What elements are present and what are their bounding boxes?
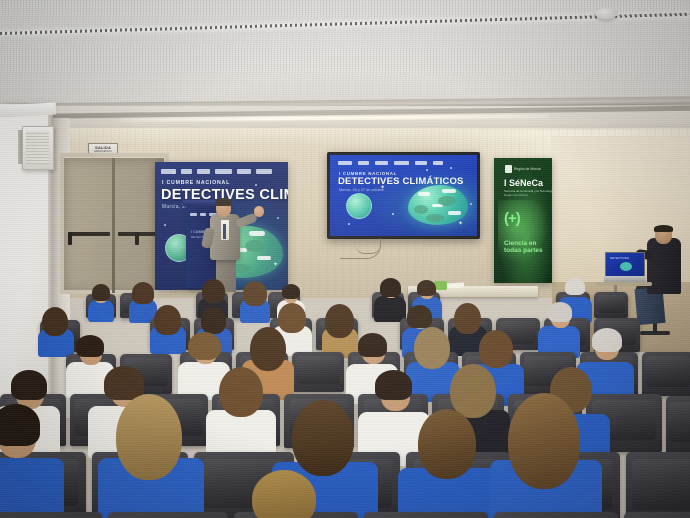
podium-logo-icon [190, 213, 197, 216]
sponsor-logo-icon [161, 169, 176, 174]
land-patch-icon [426, 214, 444, 222]
seneca-org-name: Región de Murcia [514, 167, 541, 171]
person-hair [418, 409, 476, 479]
cloud-icon [249, 231, 265, 236]
person-hair [565, 278, 585, 295]
sponsor-logo-icon [375, 161, 388, 165]
speaker-tie [223, 224, 226, 239]
person-hair [278, 303, 306, 333]
star-icon [277, 217, 279, 219]
seat[interactable] [642, 352, 690, 396]
cloud-icon [418, 192, 430, 196]
star-icon [164, 224, 166, 226]
seat[interactable] [624, 512, 690, 518]
screen-cable-secondary [355, 239, 381, 254]
star-icon [255, 184, 257, 186]
person-hair [414, 327, 450, 369]
speaker-hand [254, 206, 264, 217]
sponsor-logo-icon [433, 161, 443, 165]
sparkle-icon: ✦ [273, 262, 278, 268]
seneca-tagline-line1: Ciencia en [504, 240, 537, 247]
seneca-plus-symbol: (+) [504, 210, 520, 227]
star-icon [392, 213, 394, 215]
person-hair [358, 333, 387, 357]
person-hair [450, 364, 496, 418]
person-hair [479, 330, 513, 368]
person-hair [188, 332, 221, 360]
rollup-banner-seneca: Región de Murcia I SéNeCa Semana de la C… [494, 158, 552, 283]
person-hair [154, 305, 181, 335]
banner-sponsor-logos [161, 167, 282, 175]
door-split-line [112, 158, 115, 293]
seat[interactable] [292, 352, 344, 392]
sparkle-icon: ✦ [458, 221, 463, 227]
person-hair [454, 303, 481, 334]
sponsor-logo-icon [394, 161, 409, 165]
land-patch-icon [245, 240, 265, 252]
star-icon [348, 223, 350, 225]
person-hair [202, 279, 225, 303]
person-hair [592, 328, 622, 352]
sponsor-logo-icon [181, 169, 192, 174]
sponsor-logo-icon [237, 169, 251, 174]
person-hair [282, 284, 300, 299]
person-hair [92, 284, 110, 301]
seat[interactable] [108, 512, 228, 518]
laptop-earth-icon [620, 262, 632, 271]
person-hair [250, 327, 286, 371]
person-hair [407, 305, 432, 328]
seat[interactable] [0, 512, 102, 518]
technician-hair [654, 225, 673, 232]
seat[interactable] [594, 292, 628, 318]
seat[interactable] [626, 452, 690, 518]
star-icon [450, 167, 452, 169]
sponsor-logo-icon [215, 169, 232, 174]
presentation-screen[interactable]: I CUMBRE NACIONAL DETECTIVES CLIMÁTICOS … [330, 155, 477, 236]
person-hair [243, 281, 267, 306]
screen-sponsor-logos [338, 159, 468, 166]
cloud-icon [257, 256, 271, 260]
small-planet-icon [346, 193, 372, 219]
person-hair [417, 280, 436, 296]
speaker-hair [215, 198, 232, 206]
star-icon [426, 169, 428, 171]
cloud-icon [442, 189, 456, 193]
person-hair [508, 393, 580, 489]
podium-logo-icon [200, 213, 206, 216]
land-patch-icon [438, 196, 456, 206]
control-laptop-screen[interactable]: DETECTIVES [605, 252, 645, 277]
seat[interactable] [494, 512, 618, 518]
cloud-icon [448, 211, 461, 215]
land-patch-icon [414, 205, 428, 214]
person-hair [375, 370, 412, 400]
person-hair [325, 304, 354, 338]
person-hair [76, 335, 104, 357]
audience-seating [0, 276, 690, 518]
person-hair [219, 367, 263, 417]
laptop-screen-text: DETECTIVES [610, 256, 629, 260]
person-hair [201, 307, 226, 334]
sponsor-logo-icon [338, 161, 352, 165]
sponsor-logo-icon [358, 161, 369, 165]
seneca-tagline-line2: todas partes [504, 247, 543, 254]
seneca-title: I SéNeCa [504, 178, 543, 188]
sparkle-icon: ✦ [380, 185, 385, 191]
person-hair [11, 370, 47, 400]
person-hair [116, 394, 182, 480]
crest-icon [505, 165, 512, 173]
sponsor-logo-icon [415, 161, 427, 165]
seneca-org-logo: Región de Murcia [505, 164, 541, 173]
screen-date: Murcia, 26 y 27 de octubre [339, 188, 384, 192]
person-hair [104, 366, 144, 400]
door-handle-left[interactable] [68, 232, 72, 245]
star-icon [470, 203, 472, 205]
banner-kicker: I CUMBRE NACIONAL [162, 180, 230, 186]
person-torso [0, 458, 64, 518]
seneca-sub2: Región de Murcia [504, 193, 528, 197]
earth-illustration-icon [408, 185, 468, 225]
door-push-bar-left[interactable] [70, 232, 110, 236]
person-hair [42, 307, 68, 336]
door-push-bar-right[interactable] [118, 232, 160, 236]
person-hair [0, 404, 40, 446]
seat[interactable] [364, 512, 488, 518]
auditorium-photo: SALIDA EMERGENCIA I CUMBRE NACIONAL DETE… [0, 0, 690, 518]
person-hair [292, 400, 354, 476]
wall-speaker [22, 126, 54, 170]
person-torso [88, 300, 114, 322]
person-hair [380, 278, 401, 297]
person-hair [132, 282, 154, 304]
person-hair [548, 302, 572, 322]
sponsor-logo-icon [256, 169, 272, 174]
door-handle-center[interactable] [135, 232, 139, 245]
speaker-grille-icon [26, 131, 49, 164]
sponsor-logo-icon [197, 169, 210, 174]
seat[interactable] [666, 396, 690, 454]
smoke-detector-icon [595, 8, 617, 19]
